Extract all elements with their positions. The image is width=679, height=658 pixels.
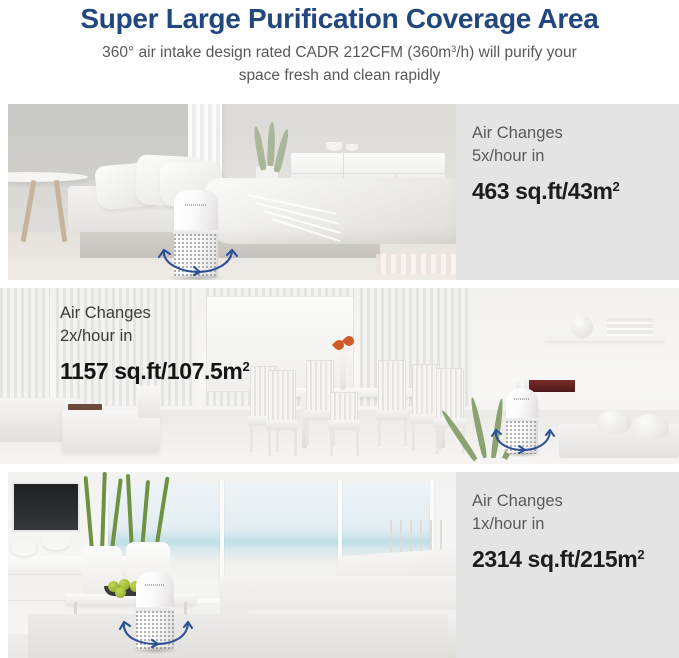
window-blinds [0,288,50,406]
subtitle-line-2: space fresh and clean rapidly [239,67,441,84]
purifier-brand-logo [514,398,531,400]
decor-bowl [326,142,342,151]
airflow-arrow-icon [490,416,556,454]
purifier-brand-logo [145,584,165,586]
dining-chair [378,360,406,444]
wall-tv [12,482,80,532]
page-title: Super Large Purification Coverage Area [30,2,649,36]
coverage-panel-bedroom: Air Changes 5x/hour in 463 sq.ft/43m2 [0,104,679,280]
header: Super Large Purification Coverage Area 3… [0,0,679,87]
area-rug [28,614,448,658]
air-changes-rate: 1x/hour in [472,513,679,536]
coverage-area-text: 2314 sq.ft/215m [472,546,637,572]
purifier-body-top [136,572,174,609]
coverage-area-value: 2314 sq.ft/215m2 [472,539,679,575]
decor-sphere [571,316,593,338]
air-changes-rate: 2x/hour in [60,325,249,348]
purifier-body-top [174,190,218,232]
living-room-scene [8,472,456,658]
shelf-books [607,318,653,336]
decor-bowl [346,144,358,151]
dining-chair [268,370,296,454]
bedroom-scene [8,104,456,280]
cushion [631,414,669,440]
square-meter-superscript: 2 [613,179,620,194]
wall-shelf [545,336,665,341]
airflow-arrow-icon [118,608,194,648]
coverage-info-dining-room: Air Changes 2x/hour in 1157 sq.ft/107.5m… [52,298,259,393]
purifier-body-top [506,388,538,420]
coverage-area-text: 463 sq.ft/43m [472,178,613,204]
dining-chair [330,392,358,464]
air-changes-label: Air Changes [60,302,249,325]
cushion [597,410,631,434]
decor-bowl [42,534,70,550]
page-subtitle: 360° air intake design rated CADR 212CFM… [30,38,649,87]
square-meter-superscript: 2 [637,547,644,562]
coverage-area-text: 1157 sq.ft/107.5m [60,358,242,384]
coverage-panel-living-room: Air Changes 1x/hour in 2314 sq.ft/215m2 [0,472,679,658]
coverage-panels: Air Changes 5x/hour in 463 sq.ft/43m2 [0,104,679,658]
coverage-area-value: 463 sq.ft/43m2 [472,171,679,207]
coverage-area-value: 1157 sq.ft/107.5m2 [60,351,249,387]
square-meter-superscript: 2 [242,359,249,374]
flower-vase [340,346,346,390]
book-stack [68,404,102,410]
decor-bowl [12,542,36,556]
airflow-arrow-icon [156,230,240,274]
subtitle-part-2: /h) will purify your [456,44,577,61]
dining-room-scene: Air Changes 2x/hour in 1157 sq.ft/107.5m… [0,288,679,464]
coverage-info-bedroom: Air Changes 5x/hour in 463 sq.ft/43m2 [456,104,679,280]
coverage-panel-dining-room: Air Changes 2x/hour in 1157 sq.ft/107.5m… [0,288,679,464]
air-changes-rate: 5x/hour in [472,145,679,168]
marketing-infographic: Super Large Purification Coverage Area 3… [0,0,679,656]
air-changes-label: Air Changes [472,490,679,513]
palm-pot [474,458,508,464]
coverage-info-living-room: Air Changes 1x/hour in 2314 sq.ft/215m2 [456,472,679,658]
subtitle-part-1: 360° air intake design rated CADR 212CFM… [102,44,451,61]
purifier-brand-logo [185,204,208,207]
green-apple [115,587,126,598]
bedroom-rug [376,254,456,274]
air-changes-label: Air Changes [472,122,679,145]
